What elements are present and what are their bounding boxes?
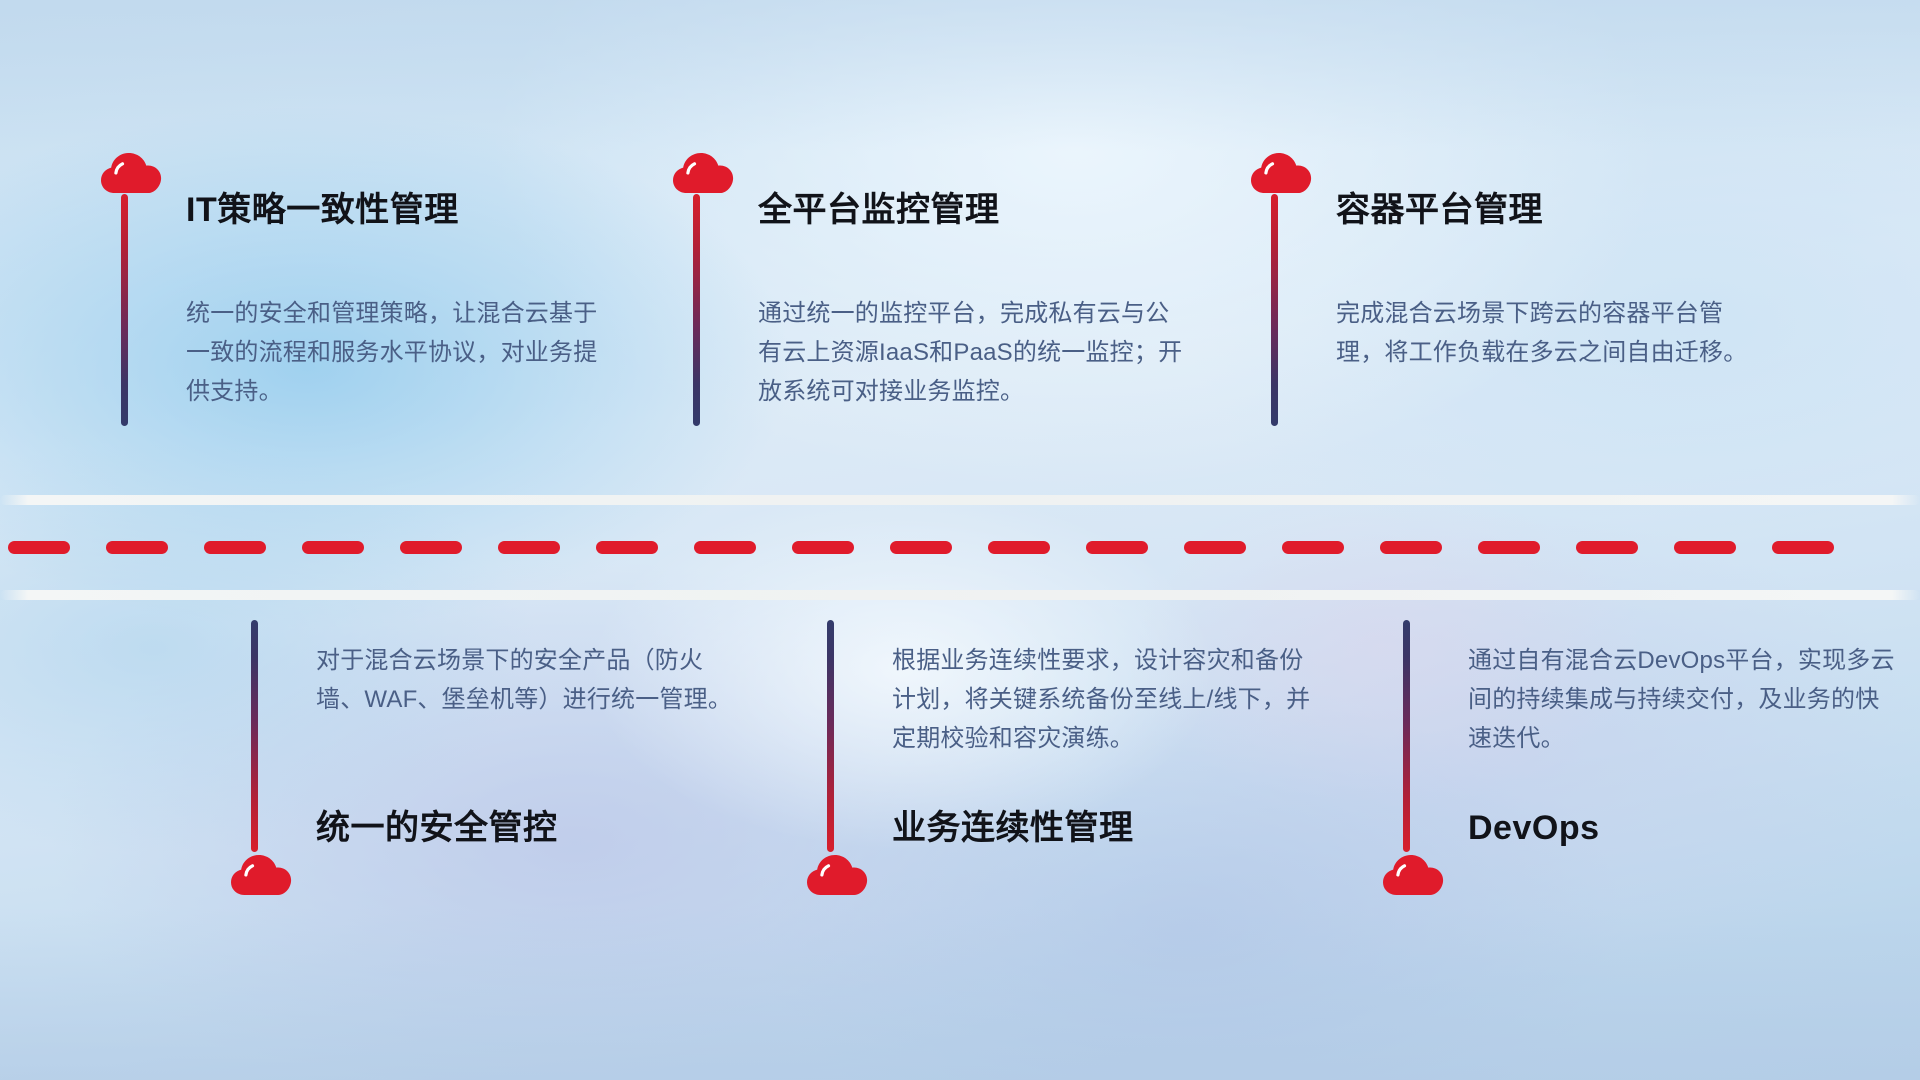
cloud-icon bbox=[1250, 150, 1312, 194]
divider-dash bbox=[1576, 541, 1638, 554]
divider-dash bbox=[8, 541, 70, 554]
pin-marker bbox=[230, 620, 296, 896]
divider-dash bbox=[1282, 541, 1344, 554]
card-description: 通过自有混合云DevOps平台，实现多云间的持续集成与持续交付，及业务的快速迭代… bbox=[1468, 642, 1898, 759]
divider-dash bbox=[890, 541, 952, 554]
pin-marker bbox=[672, 150, 738, 426]
connector-line bbox=[827, 620, 834, 852]
card-title: 统一的安全管控 bbox=[316, 808, 558, 849]
pin-marker bbox=[1250, 150, 1316, 426]
card-title: 全平台监控管理 bbox=[758, 190, 1000, 231]
divider-dash bbox=[1674, 541, 1736, 554]
divider-dash bbox=[1478, 541, 1540, 554]
card-title: IT策略一致性管理 bbox=[186, 190, 459, 231]
divider-rail-top bbox=[0, 495, 1920, 505]
connector-line bbox=[1403, 620, 1410, 852]
connector-line bbox=[693, 194, 700, 426]
divider-dash bbox=[988, 541, 1050, 554]
divider-dash bbox=[302, 541, 364, 554]
card-description: 统一的安全和管理策略，让混合云基于一致的流程和服务水平协议，对业务提供支持。 bbox=[186, 295, 616, 412]
divider-dash bbox=[106, 541, 168, 554]
divider-dash bbox=[400, 541, 462, 554]
pin-marker bbox=[806, 620, 872, 896]
divider-dash bbox=[596, 541, 658, 554]
divider-dash bbox=[1184, 541, 1246, 554]
divider-rail-bottom bbox=[0, 590, 1920, 600]
card-description: 通过统一的监控平台，完成私有云与公有云上资源IaaS和PaaS的统一监控；开放系… bbox=[758, 295, 1188, 412]
card-title: 容器平台管理 bbox=[1336, 190, 1543, 231]
card-title: 业务连续性管理 bbox=[892, 808, 1134, 849]
card-description: 根据业务连续性要求，设计容灾和备份计划，将关键系统备份至线上/线下，并定期校验和… bbox=[892, 642, 1322, 759]
cloud-icon bbox=[230, 852, 292, 896]
divider-dash bbox=[1772, 541, 1834, 554]
cloud-icon bbox=[672, 150, 734, 194]
connector-line bbox=[121, 194, 128, 426]
divider-dash bbox=[1380, 541, 1442, 554]
connector-line bbox=[1271, 194, 1278, 426]
cloud-icon bbox=[806, 852, 868, 896]
connector-line bbox=[251, 620, 258, 852]
pin-marker bbox=[1382, 620, 1448, 896]
divider-dash bbox=[1086, 541, 1148, 554]
card-title: DevOps bbox=[1468, 808, 1600, 849]
infographic-canvas: IT策略一致性管理 统一的安全和管理策略，让混合云基于一致的流程和服务水平协议，… bbox=[0, 0, 1920, 1080]
cloud-icon bbox=[1382, 852, 1444, 896]
divider-dashed-line bbox=[0, 540, 1920, 554]
divider-dash bbox=[498, 541, 560, 554]
divider-dash bbox=[694, 541, 756, 554]
divider-dash bbox=[204, 541, 266, 554]
pin-marker bbox=[100, 150, 166, 426]
divider-dash bbox=[792, 541, 854, 554]
card-description: 对于混合云场景下的安全产品（防火墙、WAF、堡垒机等）进行统一管理。 bbox=[316, 642, 746, 720]
card-description: 完成混合云场景下跨云的容器平台管理，将工作负载在多云之间自由迁移。 bbox=[1336, 295, 1766, 373]
cloud-icon bbox=[100, 150, 162, 194]
